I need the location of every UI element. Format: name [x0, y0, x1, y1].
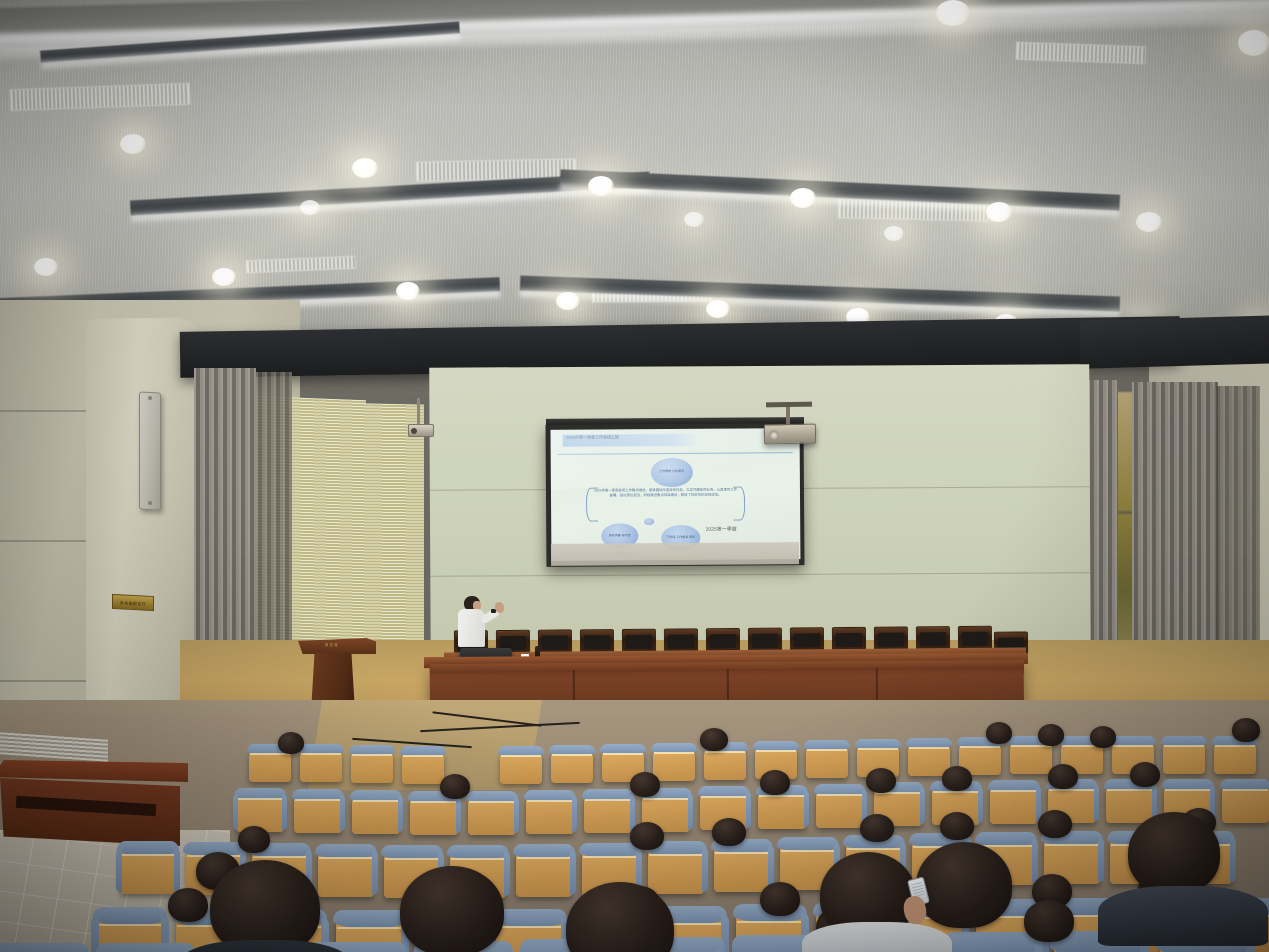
seat[interactable] [294, 793, 342, 833]
seat[interactable] [653, 747, 695, 781]
stage-chair [832, 627, 866, 651]
seat[interactable] [1214, 740, 1256, 774]
recessed-downlight [396, 282, 420, 300]
podium-emblem: 报告席 [312, 642, 352, 648]
recessed-downlight [706, 300, 730, 318]
audience-head-front [210, 860, 320, 952]
camera-arm [417, 398, 420, 426]
stage-chair [580, 629, 614, 653]
projector-lens-icon [769, 430, 779, 440]
seat[interactable] [352, 794, 400, 834]
audience-head [440, 774, 470, 799]
audience-head [942, 766, 972, 791]
seat[interactable] [551, 749, 593, 783]
seat[interactable] [584, 793, 632, 833]
recessed-downlight [1136, 212, 1162, 232]
audience-head [760, 882, 800, 916]
auditorium-seating [0, 700, 1269, 952]
audience-head [1038, 810, 1072, 838]
recessed-downlight [556, 292, 580, 310]
recessed-downlight [212, 268, 236, 286]
seat[interactable] [120, 846, 176, 894]
audience-head-front [916, 842, 1012, 928]
stage-chair [748, 628, 782, 652]
audience-head [1090, 726, 1116, 748]
seat[interactable] [526, 794, 574, 834]
audience-head [630, 772, 660, 797]
audience-head [940, 812, 974, 840]
seat[interactable] [714, 844, 770, 892]
recessed-downlight [588, 176, 614, 196]
ceiling [0, 0, 1269, 350]
audience-head [1048, 764, 1078, 789]
audience-head-front [400, 866, 504, 952]
seat[interactable] [648, 846, 704, 894]
audience-head [238, 826, 270, 853]
seat[interactable] [1222, 783, 1269, 823]
recessed-downlight [936, 0, 970, 26]
seat[interactable] [300, 748, 342, 782]
slide-body-text: 2025年第一季度各项工作稳步推进，紧紧围绕年度目标任务，扎实开展各项业务，认真… [593, 487, 738, 519]
stage-chair [622, 629, 656, 653]
screen-lower-skirt [551, 542, 799, 566]
stage-chair [664, 628, 698, 652]
projector-plate [766, 402, 812, 408]
column-speaker-icon [139, 391, 161, 510]
audience-shoulders [1098, 886, 1268, 946]
seat[interactable] [704, 746, 746, 780]
audience-head [760, 770, 790, 795]
stage-chair [874, 626, 908, 650]
recessed-downlight [120, 134, 146, 154]
stage-chair [706, 628, 740, 652]
seat[interactable] [468, 795, 516, 835]
slide-quarter-label: 2025第一季度 [706, 526, 737, 533]
recessed-downlight [684, 212, 704, 227]
recessed-downlight [300, 200, 320, 215]
seat[interactable] [948, 941, 1038, 952]
seat[interactable] [318, 849, 374, 897]
recessed-downlight [790, 188, 816, 208]
wall-camera-icon [408, 424, 434, 437]
stage-chair [538, 629, 572, 653]
recessed-downlight [884, 226, 904, 241]
seat[interactable] [1163, 740, 1205, 774]
recessed-downlight [34, 258, 58, 276]
audience-head [986, 722, 1012, 744]
stage-chair [790, 627, 824, 651]
audience-head [278, 732, 304, 754]
seat[interactable] [500, 750, 542, 784]
wall-plaque: 多功能报告厅 [112, 594, 154, 611]
audience-head [168, 888, 208, 922]
slide-surface: 2025年第一季度工作总结汇报 工作概述 总体情况 存在问题 与不足 下阶段 工… [551, 428, 801, 561]
audience-head [866, 768, 896, 793]
seat[interactable] [806, 744, 848, 778]
audience-head [1130, 762, 1160, 787]
auditorium-photo: 多功能报告厅 2025年第一季度工作总结汇报 工作概述 总体情况 存在问题 与不… [0, 0, 1269, 952]
seat[interactable] [351, 749, 393, 783]
seat[interactable] [990, 784, 1038, 824]
stage-chair [916, 626, 950, 650]
recessed-downlight [986, 202, 1012, 222]
seat[interactable] [402, 750, 444, 784]
audience-head [860, 814, 894, 842]
audience-head [1232, 718, 1260, 742]
seat[interactable] [816, 788, 864, 828]
seat[interactable] [1106, 783, 1154, 823]
slide-divider [558, 452, 792, 455]
proscenium-beam-right [1079, 315, 1269, 369]
projector-icon [764, 424, 816, 445]
audience-head [1038, 724, 1064, 746]
recessed-downlight [352, 158, 378, 178]
slide-bubble-top: 工作概述 总体情况 [650, 458, 693, 487]
audience-head [630, 822, 664, 850]
audience-head [700, 728, 728, 751]
audience-head-front [1128, 812, 1220, 894]
audience-head [1024, 900, 1074, 942]
seat[interactable] [516, 849, 572, 897]
seat[interactable] [410, 795, 458, 835]
slide-title: 2025年第一季度工作总结汇报 [563, 434, 700, 447]
audience-head [712, 818, 746, 846]
projector-mount [786, 404, 790, 426]
stage-chair [958, 626, 992, 650]
seat[interactable] [758, 789, 806, 829]
audience-shoulders [802, 922, 952, 952]
recessed-downlight [1238, 30, 1269, 56]
presenter-torso [458, 609, 485, 647]
